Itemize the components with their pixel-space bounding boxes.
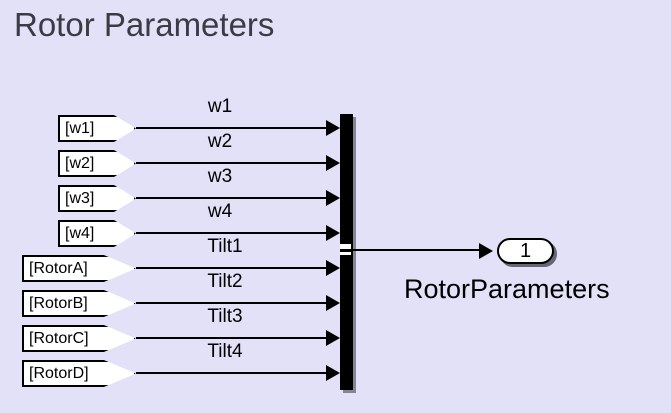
from-block-label: [RotorD] <box>29 365 89 382</box>
from-block-w3[interactable]: [w3] <box>58 185 136 212</box>
diagram-canvas: Rotor Parameters [w1] w1 [w2] w2 [w3] w3… <box>0 0 671 413</box>
signal-label-tilt4: Tilt4 <box>180 341 270 363</box>
from-block-label: [RotorC] <box>29 330 89 347</box>
signal-label-tilt1: Tilt1 <box>180 236 270 258</box>
signal-label-tilt2: Tilt2 <box>180 271 270 293</box>
wire-tilt1 <box>136 267 332 269</box>
wire-tilt2 <box>136 302 332 304</box>
from-block-label: [w3] <box>65 190 94 207</box>
wire-w3 <box>136 197 332 199</box>
from-block-label: [w1] <box>65 120 94 137</box>
signal-label-w4: w4 <box>180 201 260 223</box>
outport-block[interactable]: 1 <box>497 238 554 264</box>
arrow-head-tilt2 <box>326 295 340 311</box>
signal-label-w3: w3 <box>180 166 260 188</box>
wire-tilt3 <box>136 337 332 339</box>
from-block-label: [RotorB] <box>29 295 88 312</box>
wire-w1 <box>136 127 332 129</box>
signal-label-w1: w1 <box>180 96 260 118</box>
signal-label-tilt3: Tilt3 <box>180 306 270 328</box>
from-block-rotorb[interactable]: [RotorB] <box>22 290 136 317</box>
from-block-rotora[interactable]: [RotorA] <box>22 255 136 282</box>
wire-w4 <box>136 232 332 234</box>
outport-caption: RotorParameters <box>404 273 610 305</box>
port-slot <box>340 249 351 252</box>
signal-label-w2: w2 <box>180 131 260 153</box>
page-title: Rotor Parameters <box>14 4 274 46</box>
from-block-w1[interactable]: [w1] <box>58 115 136 142</box>
from-block-rotorc[interactable]: [RotorC] <box>22 325 136 352</box>
mux-output-port <box>340 241 351 258</box>
from-block-rotord[interactable]: [RotorD] <box>22 360 136 387</box>
arrow-head-outport <box>479 243 493 259</box>
from-block-w4[interactable]: [w4] <box>58 220 136 247</box>
outport-number: 1 <box>499 240 552 262</box>
from-block-w2[interactable]: [w2] <box>58 150 136 177</box>
arrow-head-tilt3 <box>326 330 340 346</box>
from-block-label: [w4] <box>65 225 94 242</box>
from-block-label: [RotorA] <box>29 260 88 277</box>
arrow-head-w3 <box>326 190 340 206</box>
arrow-head-w4 <box>326 225 340 241</box>
arrow-head-tilt4 <box>326 365 340 381</box>
wire-tilt4 <box>136 372 332 374</box>
wire-w2 <box>136 162 332 164</box>
arrow-head-tilt1 <box>326 260 340 276</box>
wire-mux-to-outport <box>351 249 483 251</box>
arrow-head-w1 <box>326 120 340 136</box>
arrow-head-w2 <box>326 155 340 171</box>
from-block-label: [w2] <box>65 155 94 172</box>
